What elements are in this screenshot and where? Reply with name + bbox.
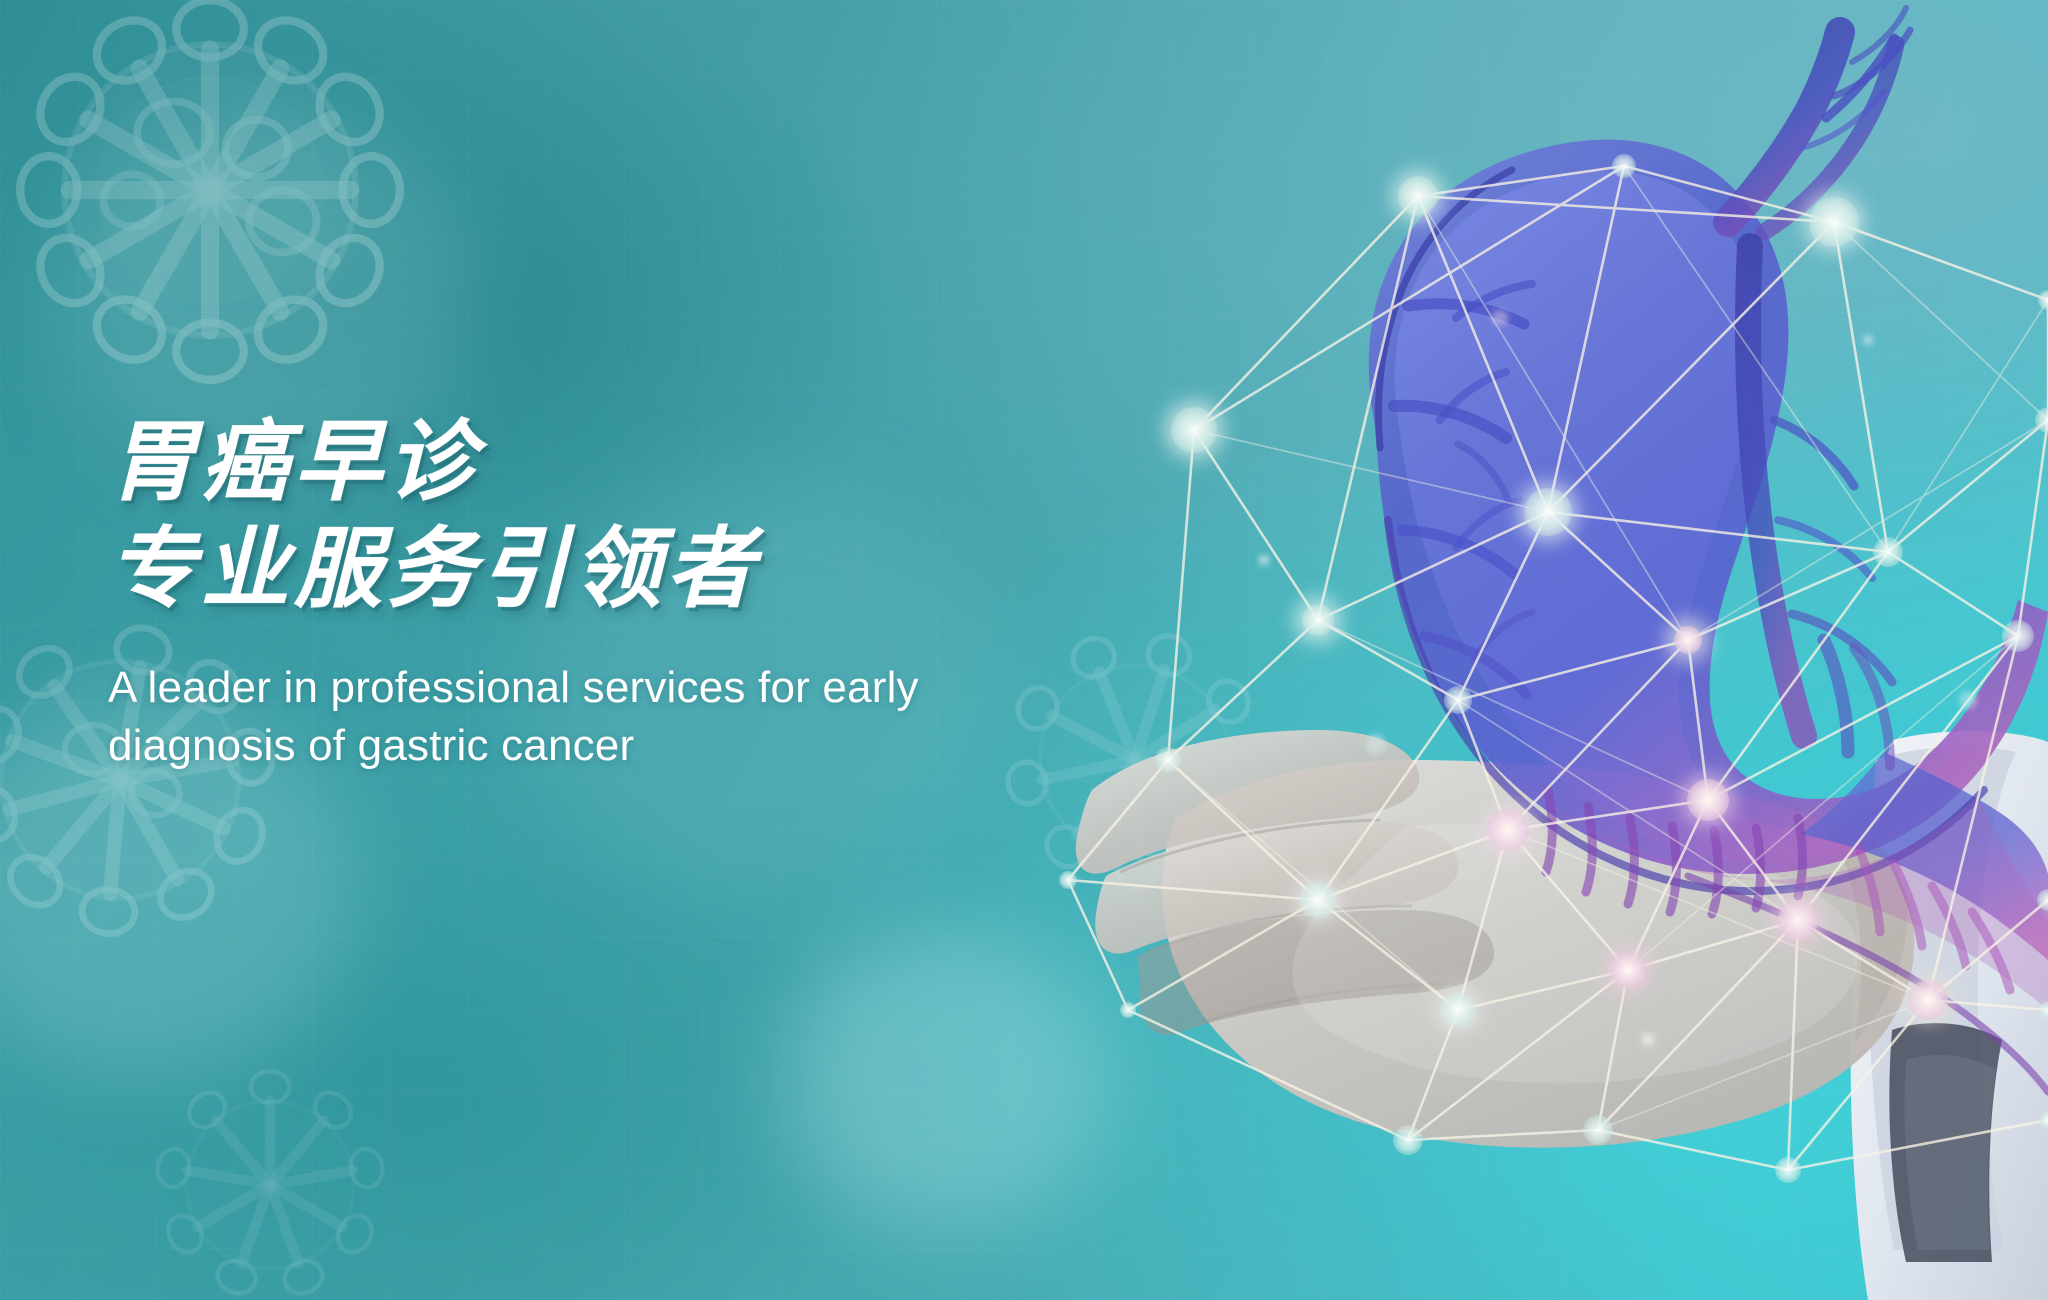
- banner-copy: 胃癌早诊 专业服务引领者 A leader in professional se…: [108, 412, 1158, 776]
- hero-banner: 胃癌早诊 专业服务引领者 A leader in professional se…: [0, 0, 2048, 1300]
- headline-line-1: 胃癌早诊: [108, 412, 1158, 511]
- subhead-line-1: A leader in professional services for ea…: [108, 659, 1158, 718]
- subhead-line-2: diagnosis of gastric cancer: [108, 717, 1158, 776]
- page-subtitle: A leader in professional services for ea…: [108, 659, 1158, 776]
- headline-line-2: 专业服务引领者: [108, 519, 1158, 618]
- page-title: 胃癌早诊 专业服务引领者: [108, 412, 1158, 619]
